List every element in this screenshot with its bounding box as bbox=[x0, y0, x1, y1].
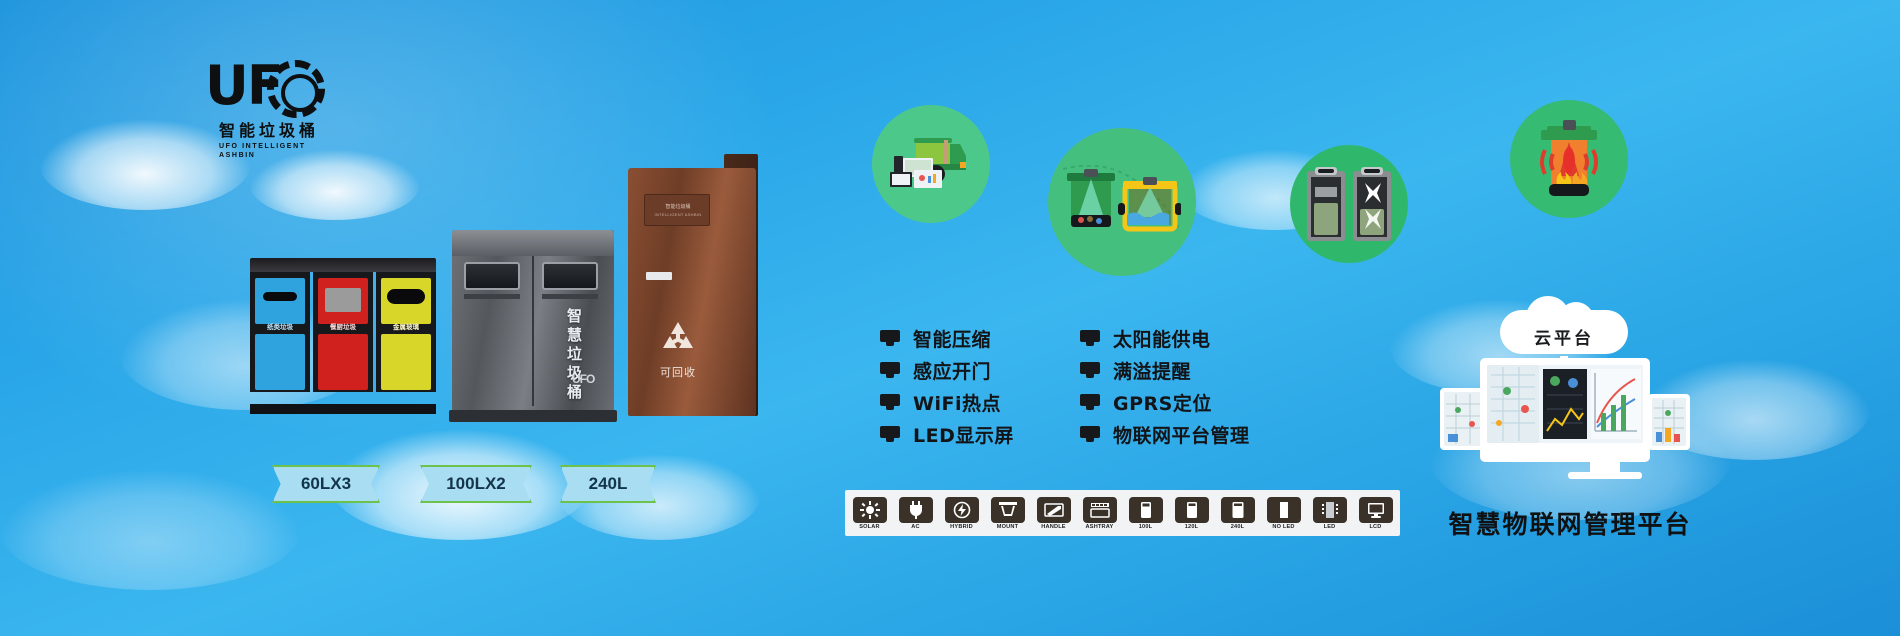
bin-base bbox=[250, 404, 436, 414]
option-label: MOUNT bbox=[989, 524, 1026, 530]
option-mount[interactable]: MOUNT bbox=[989, 497, 1026, 530]
monitor-icon bbox=[880, 426, 900, 442]
option-label: ASHTRAY bbox=[1081, 524, 1118, 530]
garbage-truck-monitoring-icon bbox=[872, 105, 990, 223]
feature-column-left: 智能压缩 感应开门 WiFi热点 LED显示屏 bbox=[880, 322, 1070, 450]
mobile-device bbox=[1648, 394, 1690, 450]
monitor-icon bbox=[1080, 330, 1100, 346]
compartment-label: 纸类垃圾 bbox=[250, 324, 310, 332]
option-ac[interactable]: AC bbox=[897, 497, 934, 530]
bin-hood bbox=[452, 230, 614, 256]
option-handle[interactable]: HANDLE bbox=[1035, 497, 1072, 530]
brand-logo: UF 智能垃圾桶 UFO INTELLIGENT ASHBIN bbox=[205, 58, 335, 158]
cloud-decoration bbox=[0, 470, 300, 590]
signage-line-1: 智能垃圾桶 bbox=[645, 203, 711, 210]
brown-recycling-bin: 智能垃圾桶 INTELLIGENT ASHBIN 可回收 bbox=[628, 168, 756, 416]
option-label: 240L bbox=[1219, 524, 1256, 530]
handle-icon bbox=[1037, 497, 1071, 523]
hybrid-power-icon bbox=[945, 497, 979, 523]
feature-item: GPRS定位 bbox=[1080, 386, 1300, 418]
bin-base bbox=[449, 410, 617, 422]
ufo-ring-icon bbox=[267, 60, 325, 118]
feature-item: 满溢提醒 bbox=[1080, 354, 1300, 386]
feature-item: 智能压缩 bbox=[880, 322, 1070, 354]
capacity-label-240l: 240L bbox=[560, 465, 656, 503]
double-compartment-bin: 智慧垃圾桶 UFO bbox=[452, 230, 614, 412]
option-label: NO LED bbox=[1265, 524, 1302, 530]
feature-label: 物联网平台管理 bbox=[1113, 421, 1250, 448]
monitor-foot bbox=[1568, 472, 1642, 479]
ashtray-icon bbox=[1083, 497, 1117, 523]
option-label: 120L bbox=[1173, 524, 1210, 530]
lcd-display-icon bbox=[1359, 497, 1393, 523]
monitor-screen bbox=[1487, 365, 1643, 443]
marketing-banner: UF 智能垃圾桶 UFO INTELLIGENT ASHBIN 纸类垃圾 餐厨垃… bbox=[0, 0, 1900, 636]
bin-card-reader bbox=[646, 272, 672, 280]
oval-slot-icon bbox=[263, 292, 297, 301]
feature-item: WiFi热点 bbox=[880, 386, 1070, 418]
waste-compression-icon bbox=[1290, 145, 1408, 263]
option-label: LCD bbox=[1357, 524, 1394, 530]
option-label: AC bbox=[897, 524, 934, 530]
feature-label: LED显示屏 bbox=[913, 421, 1014, 448]
compartment-label: 餐厨垃圾 bbox=[313, 324, 373, 332]
feature-column-right: 太阳能供电 满溢提醒 GPRS定位 物联网平台管理 bbox=[1080, 322, 1300, 450]
bin-window-left bbox=[464, 262, 520, 290]
feature-item: LED显示屏 bbox=[880, 418, 1070, 450]
bin-100l-icon bbox=[1129, 497, 1163, 523]
option-label: SOLAR bbox=[851, 524, 888, 530]
option-label: LED bbox=[1311, 524, 1348, 530]
bin-compartment-paper: 纸类垃圾 bbox=[250, 272, 310, 392]
ac-plug-icon bbox=[899, 497, 933, 523]
bin-brand-mark: UFO bbox=[572, 372, 594, 386]
capacity-label-60lx3: 60LX3 bbox=[272, 465, 380, 503]
logo-mark: UF bbox=[205, 58, 335, 120]
cloud-platform-label: 云平台 bbox=[1500, 300, 1628, 358]
bin-240l-icon bbox=[1221, 497, 1255, 523]
option-icon-strip: SOLAR AC HYBRID bbox=[845, 490, 1400, 536]
feature-label: 满溢提醒 bbox=[1113, 357, 1191, 384]
option-ashtray[interactable]: ASHTRAY bbox=[1081, 497, 1118, 530]
feature-item: 感应开门 bbox=[880, 354, 1070, 386]
feature-item: 太阳能供电 bbox=[1080, 322, 1300, 354]
option-no-led[interactable]: NO LED bbox=[1265, 497, 1302, 530]
bin-caption: 可回收 bbox=[648, 364, 708, 380]
feature-label: 太阳能供电 bbox=[1113, 325, 1211, 352]
monitor-icon bbox=[880, 362, 900, 378]
feature-label: 感应开门 bbox=[913, 357, 991, 384]
option-label: HYBRID bbox=[943, 524, 980, 530]
option-led[interactable]: LED bbox=[1311, 497, 1348, 530]
bin-window-right bbox=[542, 262, 598, 290]
compartment-graphic bbox=[381, 334, 431, 390]
bin-signage: 智能垃圾桶 INTELLIGENT ASHBIN bbox=[644, 194, 710, 226]
feature-label: 智能压缩 bbox=[913, 325, 991, 352]
option-solar[interactable]: SOLAR bbox=[851, 497, 888, 530]
monitor-icon bbox=[1080, 394, 1100, 410]
option-100l[interactable]: 100L bbox=[1127, 497, 1164, 530]
no-led-icon bbox=[1267, 497, 1301, 523]
compartment-panel bbox=[255, 278, 305, 324]
triple-compartment-bin: 纸类垃圾 餐厨垃圾 金属玻璃 bbox=[250, 258, 436, 406]
option-label: 100L bbox=[1127, 524, 1164, 530]
feature-label: GPRS定位 bbox=[1113, 389, 1212, 416]
bin-compartment-metal-glass: 金属玻璃 bbox=[376, 272, 436, 392]
bin-seam bbox=[532, 256, 534, 406]
bin-compartment-kitchen: 餐厨垃圾 bbox=[313, 272, 373, 392]
bin-top-cover bbox=[250, 258, 436, 272]
signage-line-2: INTELLIGENT ASHBIN bbox=[645, 212, 711, 217]
bin-strip-left bbox=[464, 294, 520, 299]
feature-label: WiFi热点 bbox=[913, 389, 1001, 416]
platform-title: 智慧物联网管理平台 bbox=[1420, 505, 1720, 541]
panel-slot-icon bbox=[325, 288, 361, 312]
mobile-screen bbox=[1652, 398, 1686, 446]
cloud-decoration bbox=[250, 150, 420, 220]
compartment-panel bbox=[318, 278, 368, 324]
logo-english-name: UFO INTELLIGENT ASHBIN bbox=[219, 142, 335, 160]
logo-chinese-name: 智能垃圾桶 bbox=[219, 122, 319, 140]
round-slot-icon bbox=[387, 289, 425, 304]
feature-circle-truck-monitoring bbox=[872, 105, 990, 223]
cloud-platform-text: 云平台 bbox=[1500, 324, 1628, 349]
compartment-panel bbox=[381, 278, 431, 324]
fill-level-sensor-icon bbox=[1048, 128, 1196, 276]
management-platform-devices bbox=[1440, 358, 1690, 478]
feature-circle-fire-alarm bbox=[1510, 100, 1628, 218]
option-120l[interactable]: 120L bbox=[1173, 497, 1210, 530]
compartment-label: 金属玻璃 bbox=[376, 324, 436, 332]
option-240l[interactable]: 240L bbox=[1219, 497, 1256, 530]
option-lcd[interactable]: LCD bbox=[1357, 497, 1394, 530]
recycle-icon bbox=[658, 318, 698, 358]
option-label: HANDLE bbox=[1035, 524, 1072, 530]
led-display-icon bbox=[1313, 497, 1347, 523]
feature-circle-compression bbox=[1290, 145, 1408, 263]
desktop-monitor bbox=[1480, 358, 1650, 462]
solar-panel-icon bbox=[853, 497, 887, 523]
feature-item: 物联网平台管理 bbox=[1080, 418, 1300, 450]
wall-mount-icon bbox=[991, 497, 1025, 523]
capacity-label-100lx2: 100LX2 bbox=[420, 465, 532, 503]
fire-alarm-detection-icon bbox=[1510, 100, 1628, 218]
monitor-icon bbox=[1080, 426, 1100, 442]
bin-120l-icon bbox=[1175, 497, 1209, 523]
option-hybrid[interactable]: HYBRID bbox=[943, 497, 980, 530]
bin-strip-right bbox=[542, 294, 598, 299]
bin-vertical-text: 智慧垃圾桶 bbox=[564, 308, 582, 403]
monitor-icon bbox=[880, 394, 900, 410]
feature-circle-fill-level-sensor bbox=[1048, 128, 1196, 276]
monitor-icon bbox=[1080, 362, 1100, 378]
compartment-graphic bbox=[318, 334, 368, 390]
compartment-graphic bbox=[255, 334, 305, 390]
monitor-icon bbox=[880, 330, 900, 346]
tablet-screen bbox=[1444, 392, 1484, 446]
